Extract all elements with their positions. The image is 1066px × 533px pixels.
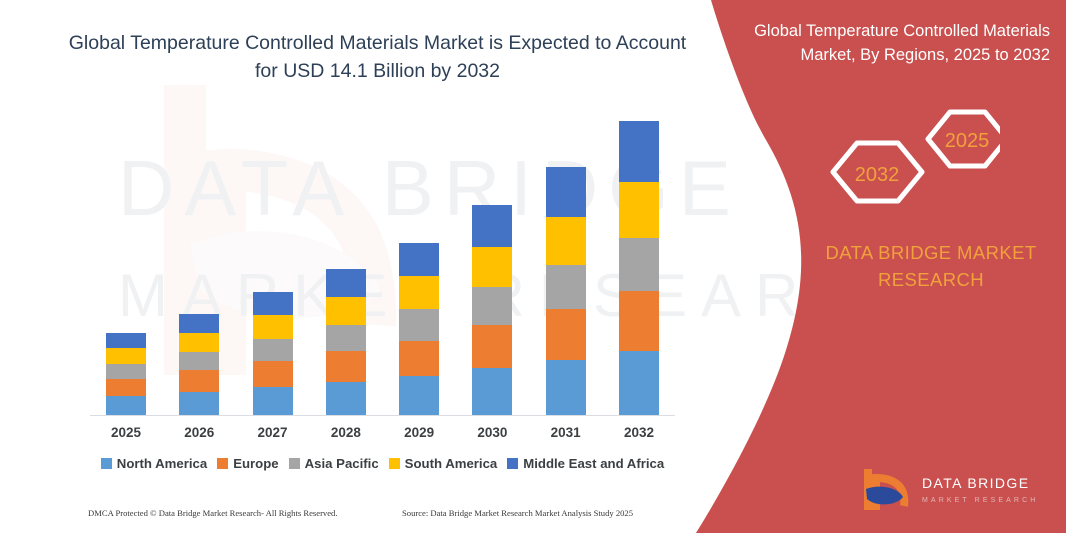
bar-2026: [163, 118, 235, 415]
bar-segment: [399, 243, 439, 277]
legend-label: Asia Pacific: [305, 456, 379, 471]
hexagon-2032-label: 2032: [855, 164, 900, 186]
page-title: Global Temperature Controlled Materials …: [60, 30, 695, 85]
bar-segment: [179, 370, 219, 391]
brand-name: DATA BRIDGE MARKET RESEARCH: [806, 240, 1056, 294]
bar-segment: [253, 339, 293, 361]
bar-segment: [546, 167, 586, 217]
bar-segment: [546, 265, 586, 310]
bar-segment: [619, 291, 659, 350]
legend-swatch-icon: [101, 458, 112, 469]
x-axis-labels: 20252026202720282029203020312032: [90, 425, 675, 440]
legend-swatch-icon: [289, 458, 300, 469]
hexagon-2032: 2032: [833, 143, 922, 201]
hexagon-2025: 2025: [928, 112, 1000, 166]
x-tick-2027: 2027: [237, 425, 309, 440]
bar-segment: [546, 217, 586, 265]
data-bridge-logo: DATA BRIDGE MARKET RESEARCH: [862, 466, 1052, 514]
bar-segment: [472, 287, 512, 325]
legend-swatch-icon: [217, 458, 228, 469]
bar-segment: [326, 382, 366, 415]
bar-segment: [399, 376, 439, 415]
bar-segment: [399, 276, 439, 309]
bar-segment: [253, 292, 293, 315]
bar-segment: [326, 325, 366, 351]
bar-segment: [546, 360, 586, 415]
legend-item[interactable]: South America: [389, 456, 498, 471]
x-tick-2026: 2026: [163, 425, 235, 440]
x-tick-2025: 2025: [90, 425, 162, 440]
x-axis-line: [90, 415, 675, 416]
bar-segment: [619, 182, 659, 239]
bar-segment: [106, 348, 146, 364]
bar-segment: [179, 392, 219, 415]
legend-label: Europe: [233, 456, 278, 471]
bar-segment: [253, 387, 293, 415]
legend-swatch-icon: [507, 458, 518, 469]
panel-title: Global Temperature Controlled Materials …: [740, 20, 1050, 68]
legend-swatch-icon: [389, 458, 400, 469]
bar-segment: [179, 314, 219, 333]
bar-2032: [603, 118, 675, 415]
footer-source: Source: Data Bridge Market Research Mark…: [402, 508, 633, 518]
x-tick-2029: 2029: [383, 425, 455, 440]
bar-segment: [619, 351, 659, 415]
legend-item[interactable]: Asia Pacific: [289, 456, 379, 471]
bar-segment: [253, 315, 293, 339]
bar-2025: [90, 118, 162, 415]
logo-text-secondary: MARKET RESEARCH: [922, 497, 1038, 504]
bar-segment: [106, 333, 146, 348]
footer-copyright: DMCA Protected © Data Bridge Market Rese…: [88, 508, 338, 518]
x-tick-2032: 2032: [603, 425, 675, 440]
bar-segment: [179, 352, 219, 370]
bar-segment: [326, 297, 366, 325]
bar-segment: [472, 205, 512, 247]
bar-2027: [237, 118, 309, 415]
legend-label: South America: [405, 456, 498, 471]
legend-label: North America: [117, 456, 207, 471]
legend-item[interactable]: North America: [101, 456, 207, 471]
bar-segment: [326, 269, 366, 297]
bar-segment: [179, 333, 219, 352]
bar-segment: [106, 396, 146, 415]
bar-segment: [106, 379, 146, 396]
bar-segment: [326, 351, 366, 382]
bar-segment: [253, 361, 293, 387]
hexagon-2025-label: 2025: [945, 130, 990, 152]
bar-2028: [310, 118, 382, 415]
hexagon-group: 2025 2032: [820, 98, 1000, 213]
x-tick-2031: 2031: [530, 425, 602, 440]
legend-item[interactable]: Middle East and Africa: [507, 456, 664, 471]
bar-segment: [619, 121, 659, 182]
x-tick-2028: 2028: [310, 425, 382, 440]
chart-legend: North AmericaEuropeAsia PacificSouth Ame…: [90, 456, 675, 471]
bar-group: [90, 118, 675, 415]
bar-segment: [619, 238, 659, 291]
logo-mark-icon: [866, 469, 904, 506]
bar-segment: [106, 364, 146, 379]
bar-segment: [399, 309, 439, 340]
bar-segment: [399, 341, 439, 376]
legend-label: Middle East and Africa: [523, 456, 664, 471]
legend-item[interactable]: Europe: [217, 456, 278, 471]
bar-segment: [472, 368, 512, 415]
bar-2030: [456, 118, 528, 415]
bar-2031: [530, 118, 602, 415]
x-tick-2030: 2030: [456, 425, 528, 440]
stacked-bar-chart: [90, 118, 675, 416]
infographic-canvas: DATA BRIDGE MARKET RESEARCH Global Tempe…: [0, 0, 1066, 533]
logo-text-primary: DATA BRIDGE: [922, 475, 1029, 491]
bar-2029: [383, 118, 455, 415]
bar-segment: [546, 309, 586, 359]
bar-segment: [472, 247, 512, 287]
bar-segment: [472, 325, 512, 368]
